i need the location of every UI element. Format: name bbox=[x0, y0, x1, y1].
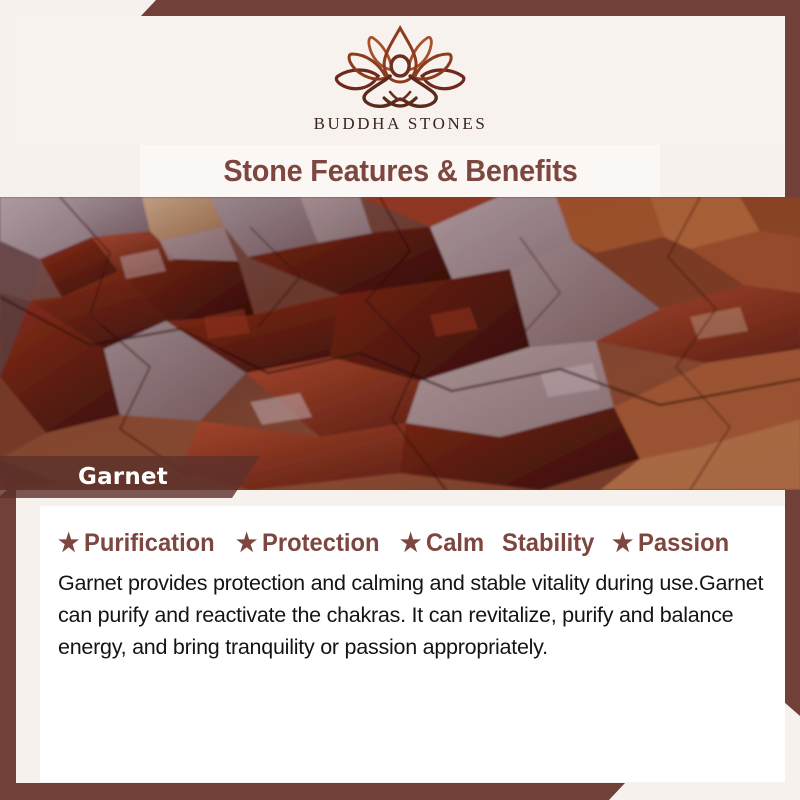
feature-label: Protection bbox=[262, 529, 379, 558]
frame-band-bottom bbox=[0, 783, 625, 800]
feature-label: Stability bbox=[502, 529, 594, 558]
poster-root: BUDDHA STONES Stone Features & Benefits bbox=[0, 0, 800, 800]
brand-header: BUDDHA STONES bbox=[16, 16, 785, 145]
stone-description: Garnet provides protection and calming a… bbox=[58, 567, 767, 663]
content-card: ★ Purification ★ Protection ★ Calm Stabi… bbox=[40, 506, 785, 782]
frame-band-left bbox=[0, 482, 16, 800]
lotus-meditation-icon bbox=[324, 24, 476, 112]
feature-label: Passion bbox=[638, 529, 729, 558]
feature-item-passion: ★ Passion bbox=[612, 529, 729, 558]
feature-label: Calm bbox=[426, 529, 484, 558]
star-icon: ★ bbox=[400, 531, 421, 556]
title-plate: Stone Features & Benefits bbox=[140, 145, 660, 197]
feature-item-stability: Stability bbox=[502, 529, 594, 558]
brand-logo: BUDDHA STONES bbox=[314, 24, 488, 134]
poster-canvas: BUDDHA STONES Stone Features & Benefits bbox=[16, 16, 785, 782]
stone-name-bar: Garnet bbox=[0, 456, 260, 498]
star-icon: ★ bbox=[58, 531, 79, 556]
star-icon: ★ bbox=[236, 531, 257, 556]
hero-image bbox=[0, 197, 800, 490]
feature-item-purification: ★ Purification bbox=[58, 529, 215, 558]
stone-name-label: Garnet bbox=[0, 464, 168, 490]
frame-band-top bbox=[140, 0, 800, 17]
garnet-crystal-graphic bbox=[0, 197, 800, 490]
feature-label: Purification bbox=[84, 529, 215, 558]
feature-item-protection: ★ Protection bbox=[236, 529, 379, 558]
brand-name: BUDDHA STONES bbox=[314, 114, 488, 134]
feature-list: ★ Purification ★ Protection ★ Calm Stabi… bbox=[40, 506, 785, 558]
feature-item-calm: ★ Calm bbox=[400, 529, 484, 558]
star-icon: ★ bbox=[612, 531, 633, 556]
page-title: Stone Features & Benefits bbox=[223, 153, 577, 189]
